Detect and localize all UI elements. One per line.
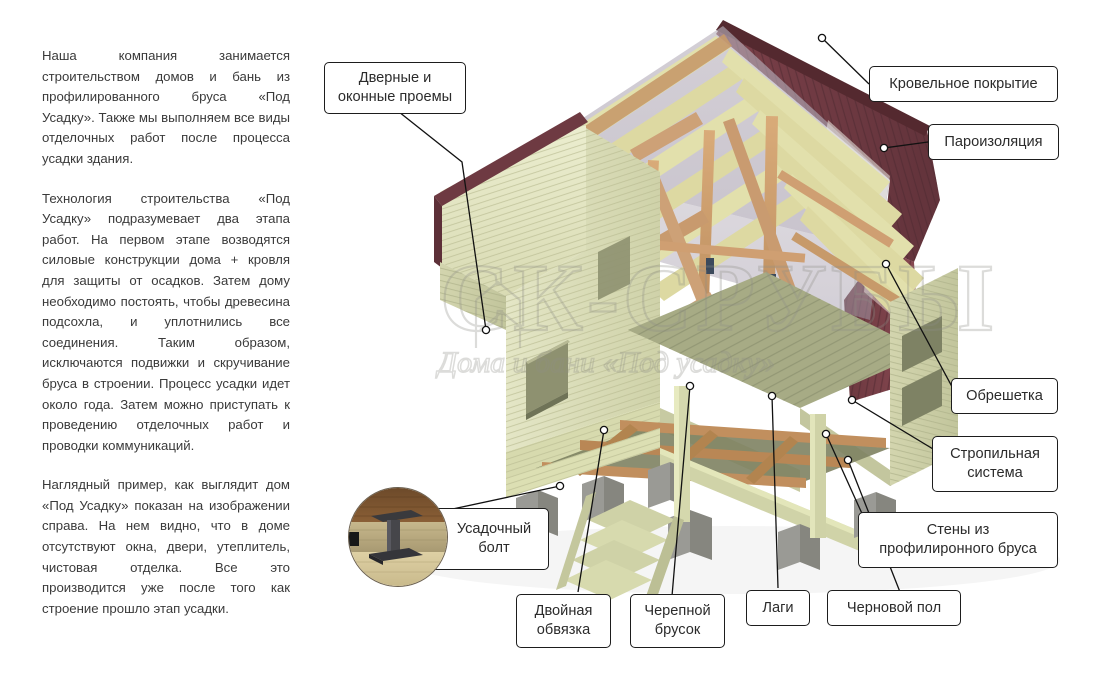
callout-doors-windows[interactable]: Дверные и оконные проемы (324, 62, 466, 114)
callout-double-binding-line1: Двойная (535, 602, 593, 621)
paragraph-2: Технология строительства «Под Усадку» по… (42, 189, 290, 457)
callout-doors-windows-line2: оконные проемы (338, 88, 452, 107)
shrinkage-bolt-photo (348, 487, 448, 587)
callout-vapour-barrier[interactable]: Пароизоляция (928, 124, 1059, 160)
callout-lathing[interactable]: Обрешетка (951, 378, 1058, 414)
callout-double-binding-line2: обвязка (537, 621, 590, 640)
paragraph-1: Наша компания занимается строительством … (42, 46, 290, 170)
callout-roof-covering-label: Кровельное покрытие (889, 75, 1037, 94)
callout-joists-label: Лаги (762, 599, 793, 618)
page-root: Наша компания занимается строительством … (0, 0, 1100, 690)
callout-joists[interactable]: Лаги (746, 590, 810, 626)
callout-double-binding[interactable]: Двойная обвязка (516, 594, 611, 648)
callout-skull-beam[interactable]: Черепной брусок (630, 594, 725, 648)
callout-rafter-system[interactable]: Стропильная система (932, 436, 1058, 492)
paragraph-3: Наглядный пример, как выглядит дом «Под … (42, 475, 290, 619)
callout-walls-line2: профилиронного бруса (879, 540, 1036, 559)
callout-lathing-label: Обрешетка (966, 387, 1043, 406)
callout-skull-beam-line2: брусок (655, 621, 700, 640)
callout-roof-covering[interactable]: Кровельное покрытие (869, 66, 1058, 102)
callout-rafter-system-line1: Стропильная (950, 445, 1040, 464)
callout-skull-beam-line1: Черепной (644, 602, 710, 621)
callout-walls-line1: Стены из (927, 521, 990, 540)
callout-shrinkage-bolt-line1: Усадочный (457, 520, 531, 539)
shrinkage-bolt-photo-svg (349, 488, 447, 586)
callout-shrinkage-bolt-line2: болт (478, 539, 509, 558)
callout-subfloor-label: Черновой пол (847, 599, 941, 618)
article-text: Наша компания занимается строительством … (42, 46, 290, 619)
callout-rafter-system-line2: система (967, 464, 1023, 483)
callout-doors-windows-line1: Дверные и (359, 69, 432, 88)
callout-walls[interactable]: Стены из профилиронного бруса (858, 512, 1058, 568)
callout-vapour-barrier-label: Пароизоляция (944, 133, 1042, 152)
callout-subfloor[interactable]: Черновой пол (827, 590, 961, 626)
